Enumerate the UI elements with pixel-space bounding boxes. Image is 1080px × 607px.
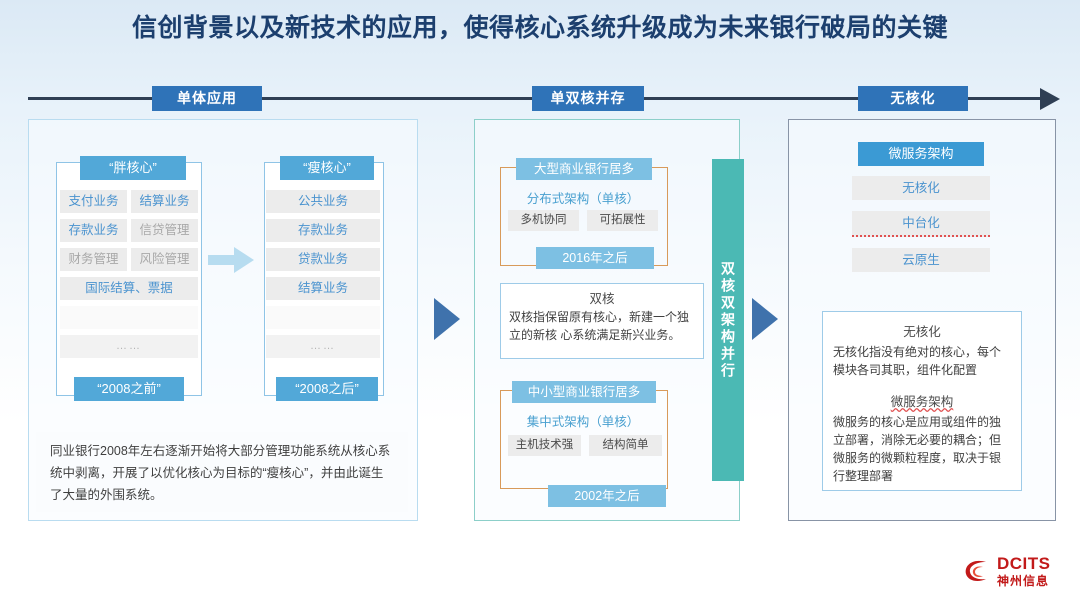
- timeline-arrow-icon: [1040, 88, 1060, 110]
- fat-core-caption: “胖核心”: [80, 156, 186, 180]
- table-row: 存款业务 信贷管理: [60, 219, 198, 242]
- small-bank-subtitle: 集中式架构（单核）: [500, 411, 666, 430]
- list-item-blank: [266, 306, 380, 329]
- list-item: 国际结算、票据: [60, 277, 198, 300]
- list-item: 存款业务: [266, 219, 380, 242]
- table-row: ……: [60, 335, 198, 358]
- list-item: 财务管理: [60, 248, 127, 271]
- list-item: 结算业务: [266, 277, 380, 300]
- coreless-detail-box: 无核化 无核化指没有绝对的核心，每个模块各司其职，组件化配置 微服务架构 微服务…: [822, 311, 1022, 491]
- list-item: 中台化: [852, 211, 990, 237]
- panel-arrow-2-icon: [752, 298, 778, 340]
- list-item-ellipsis: ……: [60, 335, 198, 358]
- table-row: 国际结算、票据: [60, 277, 198, 300]
- list-item: 存款业务: [60, 219, 127, 242]
- list-item: 贷款业务: [266, 248, 380, 271]
- table-row: [266, 306, 380, 329]
- dual-core-vertical-banner: 双核双架构并行: [712, 159, 744, 481]
- tag-item: 可拓展性: [587, 210, 658, 231]
- coreless-body: 无核化指没有绝对的核心，每个模块各司其职，组件化配置: [833, 343, 1011, 379]
- list-item-ellipsis: ……: [266, 335, 380, 358]
- slide-canvas: 信创背景以及新技术的应用，使得核心系统升级成为未来银行破局的关键 单体应用 单双…: [0, 0, 1080, 607]
- logo-name-en: DCITS: [997, 555, 1051, 572]
- timeline: 单体应用 单双核并存 无核化: [28, 86, 1060, 112]
- table-row: 存款业务: [266, 219, 380, 242]
- list-item: 云原生: [852, 248, 990, 272]
- large-bank-year: 2016年之后: [536, 247, 654, 269]
- table-row: 公共业务: [266, 190, 380, 213]
- page-title: 信创背景以及新技术的应用，使得核心系统升级成为未来银行破局的关键: [0, 8, 1080, 44]
- small-bank-caption: 中小型商业银行居多: [512, 381, 656, 403]
- table-row: [60, 306, 198, 329]
- dual-core-definition-box: 双核 双核指保留原有核心，新建一个独立的新核 心系统满足新兴业务。: [500, 283, 704, 359]
- dcits-swirl-icon: [962, 556, 992, 586]
- list-item-blank: [60, 306, 198, 329]
- fat-core-year: “2008之前”: [74, 377, 184, 401]
- microservice-cells: 无核化 中台化 云原生: [852, 176, 990, 283]
- table-row: 支付业务 结算业务: [60, 190, 198, 213]
- dual-core-body: 双核指保留原有核心，新建一个独立的新核 心系统满足新兴业务。: [509, 308, 695, 344]
- list-item: 无核化: [852, 176, 990, 200]
- tag-item: 多机协同: [508, 210, 579, 231]
- timeline-stage-1[interactable]: 单体应用: [152, 86, 262, 111]
- microservice-caption: 微服务架构: [858, 142, 984, 166]
- small-bank-year: 2002年之后: [548, 485, 666, 507]
- list-item: 结算业务: [131, 190, 198, 213]
- logo-name-cn: 神州信息: [997, 575, 1051, 587]
- large-bank-tags: 多机协同 可拓展性: [508, 210, 658, 231]
- coreless-title: 无核化: [833, 321, 1011, 340]
- table-row: ……: [266, 335, 380, 358]
- thin-core-cells: 公共业务 存款业务 贷款业务 结算业务 ……: [266, 190, 380, 364]
- table-row: 结算业务: [266, 277, 380, 300]
- microservice-body: 微服务的核心是应用或组件的独立部署，消除无必要的耦合；但微服务的微颗粒程度，取决…: [833, 413, 1011, 485]
- tag-item: 结构简单: [589, 435, 662, 456]
- panel-arrow-1-icon: [434, 298, 460, 340]
- microservice-title: 微服务架构: [833, 391, 1011, 410]
- list-item: 公共业务: [266, 190, 380, 213]
- tag-item: 主机技术强: [508, 435, 581, 456]
- list-item: 信贷管理: [131, 219, 198, 242]
- dual-core-title: 双核: [509, 288, 695, 307]
- panel1-note: 同业银行2008年左右逐渐开始将大部分管理功能系统从核心系统中剥离，开展了以优化…: [36, 432, 408, 512]
- brand-logo: DCITS 神州信息: [962, 548, 1066, 594]
- thin-core-year: “2008之后”: [276, 377, 378, 401]
- table-row: 财务管理 风险管理: [60, 248, 198, 271]
- list-item: 支付业务: [60, 190, 127, 213]
- thin-core-caption: “瘦核心”: [280, 156, 374, 180]
- large-bank-subtitle: 分布式架构（单核）: [500, 188, 666, 207]
- timeline-stage-3[interactable]: 无核化: [858, 86, 968, 111]
- list-item: 风险管理: [131, 248, 198, 271]
- table-row: 贷款业务: [266, 248, 380, 271]
- fat-core-cells: 支付业务 结算业务 存款业务 信贷管理 财务管理 风险管理 国际结算、票据 ……: [60, 190, 198, 364]
- small-bank-tags: 主机技术强 结构简单: [508, 435, 662, 456]
- transition-arrow-icon: [208, 247, 256, 273]
- large-bank-caption: 大型商业银行居多: [516, 158, 652, 180]
- timeline-stage-2[interactable]: 单双核并存: [532, 86, 644, 111]
